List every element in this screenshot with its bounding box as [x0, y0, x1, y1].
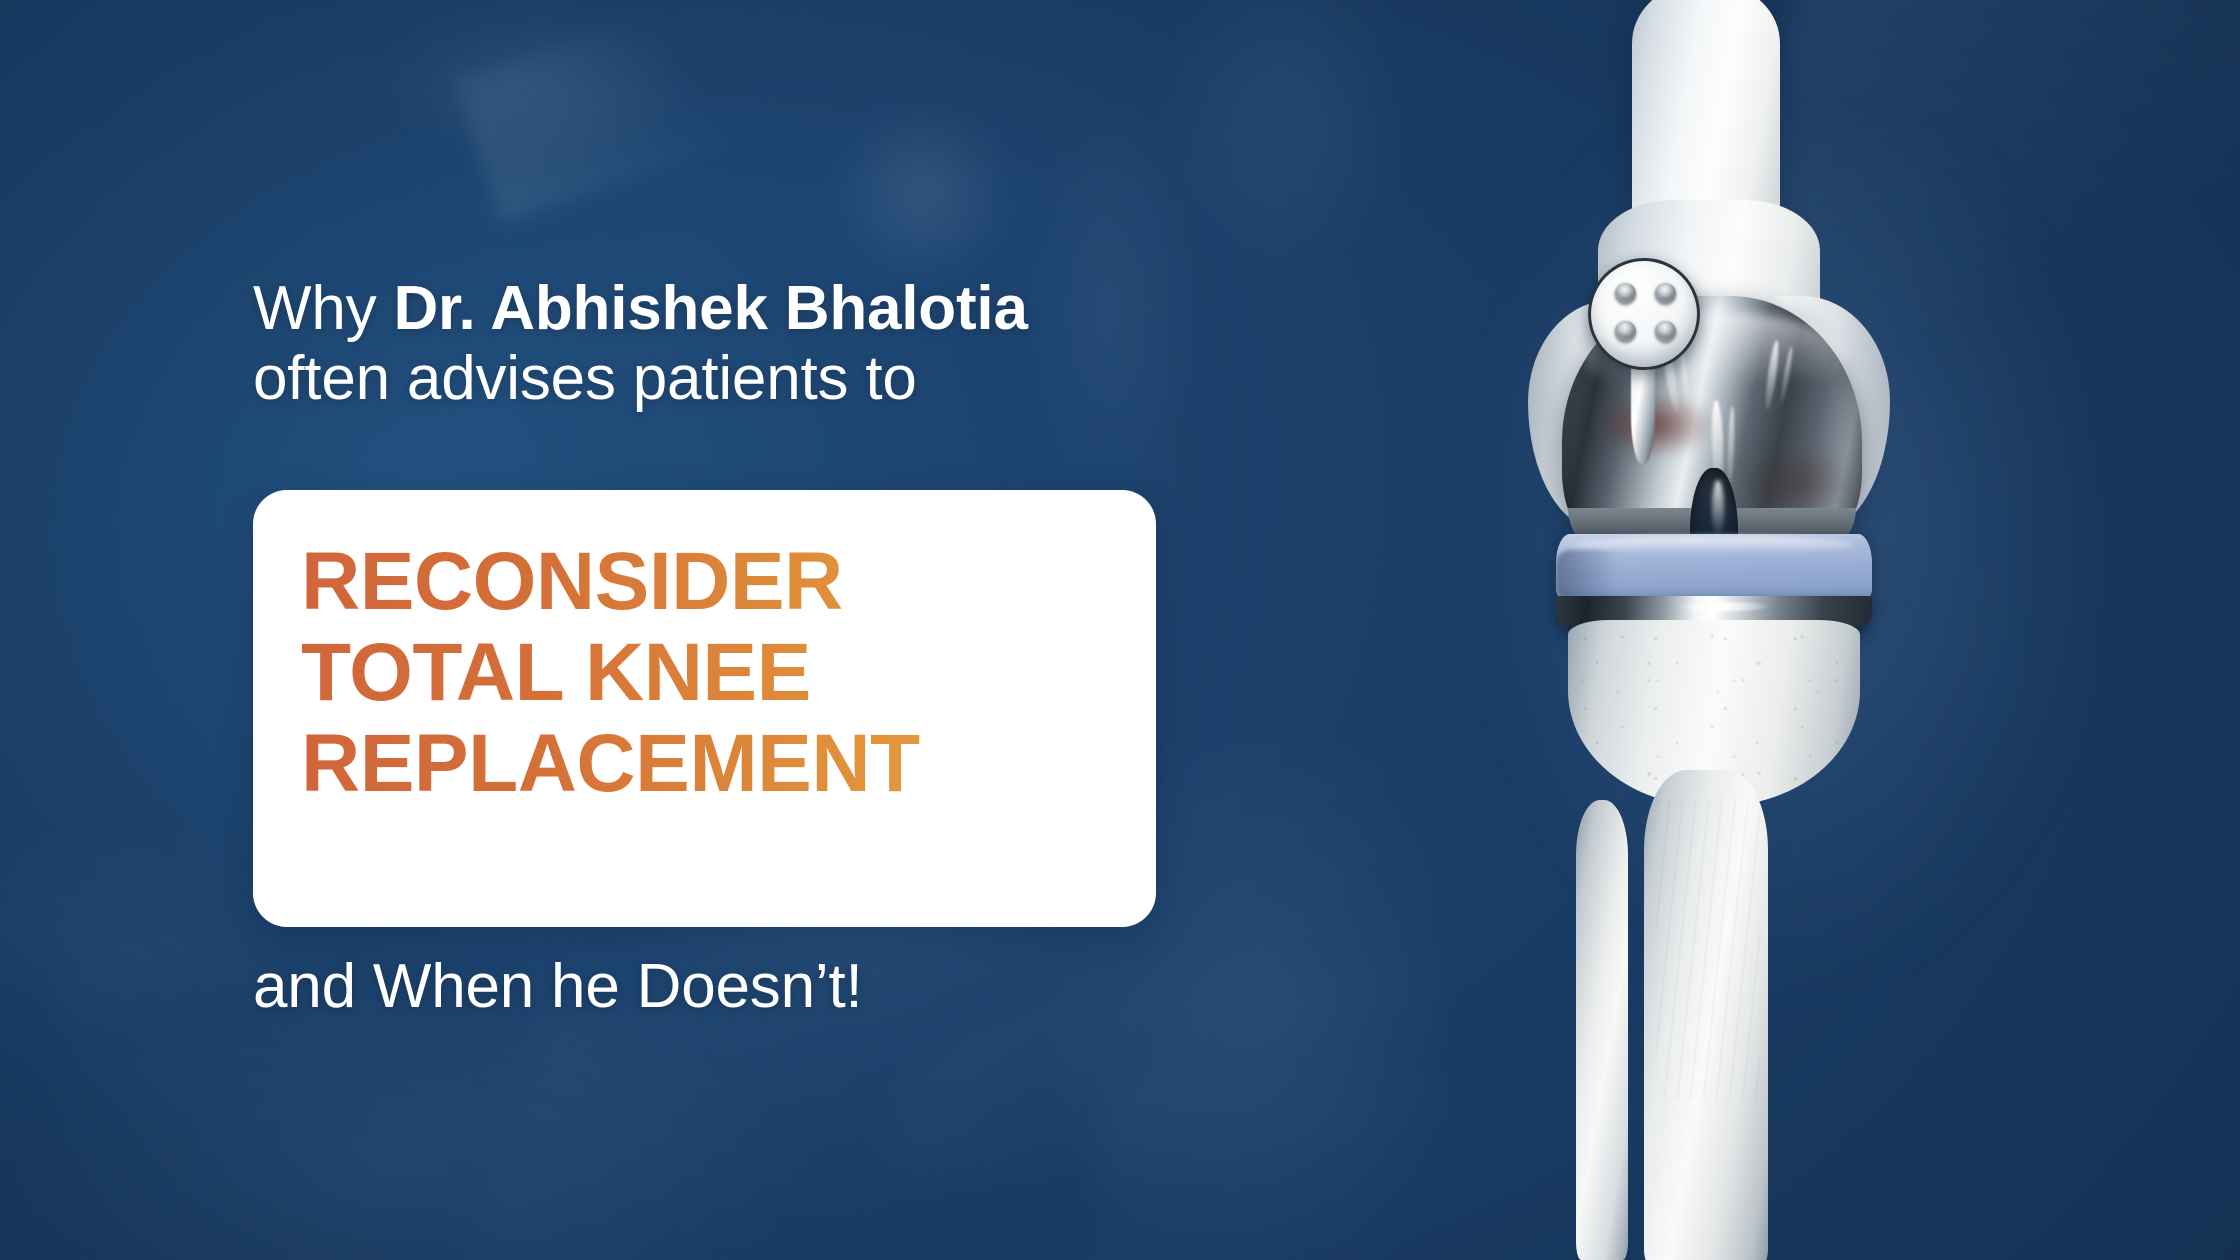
emphasis-line-2: TOTAL KNEE	[301, 627, 1121, 718]
polyethylene-tibial-insert	[1556, 534, 1872, 600]
patellar-button-stem	[1631, 360, 1655, 464]
patellar-peg	[1615, 321, 1636, 342]
fibula-bone	[1576, 800, 1628, 1260]
headline-intro: Why Dr. Abhishek Bhalotia often advises …	[253, 274, 1233, 414]
emphasis-headline: RECONSIDER TOTAL KNEE REPLACEMENT	[301, 536, 1121, 809]
chrome-reflection	[1596, 392, 1714, 458]
insert-side-shadow	[1556, 550, 1618, 598]
knee-implant-illustration	[1380, 0, 2240, 1260]
patellar-peg	[1615, 283, 1636, 304]
promo-banner: Why Dr. Abhishek Bhalotia often advises …	[0, 0, 2240, 1260]
text-column: Why Dr. Abhishek Bhalotia often advises …	[0, 0, 1260, 1260]
patellar-peg	[1655, 321, 1676, 342]
baseplate-highlight	[1676, 602, 1772, 611]
bone-striations	[1656, 800, 1760, 1100]
emphasis-line-1: RECONSIDER	[301, 536, 1121, 627]
patellar-peg	[1655, 283, 1676, 304]
headline-prefix: Why	[253, 274, 393, 343]
closing-line: and When he Doesn’t!	[253, 952, 1233, 1022]
patellar-button	[1588, 258, 1700, 370]
doctor-name: Dr. Abhishek Bhalotia	[393, 274, 1027, 343]
headline-line-2: often advises patients to	[253, 344, 1233, 414]
emphasis-card: RECONSIDER TOTAL KNEE REPLACEMENT	[253, 490, 1156, 927]
emphasis-line-3: REPLACEMENT	[301, 718, 1121, 809]
notch-highlight	[1712, 480, 1724, 538]
